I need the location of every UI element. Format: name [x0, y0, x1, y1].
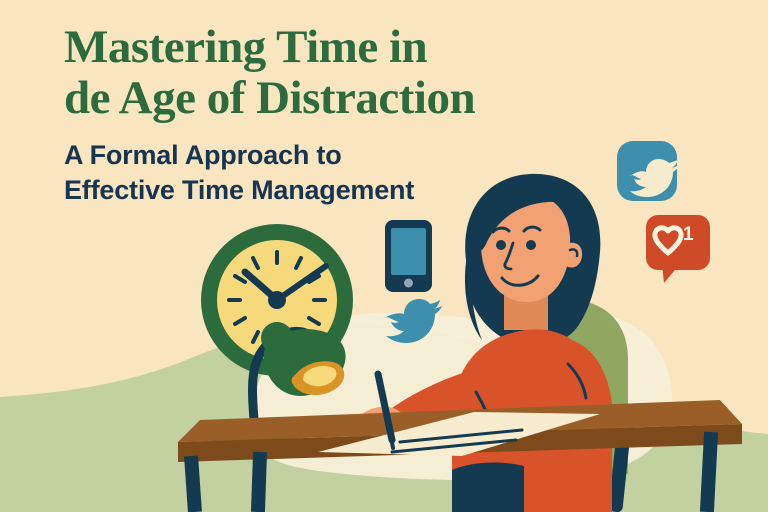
title-block: Mastering Time in de Age of Distraction … [64, 22, 624, 209]
clock-center-pin [268, 291, 286, 309]
phone-screen [391, 228, 426, 275]
smartphone [385, 220, 432, 292]
eye-left [496, 240, 506, 250]
page-subtitle: A Formal Approach to Effective Time Mana… [64, 138, 624, 209]
like-count-label: 1 [683, 225, 694, 244]
poster-canvas: Mastering Time in de Age of Distraction … [0, 0, 768, 512]
phone-home-button [404, 279, 413, 288]
page-title: Mastering Time in de Age of Distraction [64, 22, 624, 124]
eye-right [526, 240, 536, 250]
legs [452, 463, 524, 512]
desk-leg-mid [251, 452, 267, 512]
twitter-app-tile[interactable] [617, 141, 679, 201]
